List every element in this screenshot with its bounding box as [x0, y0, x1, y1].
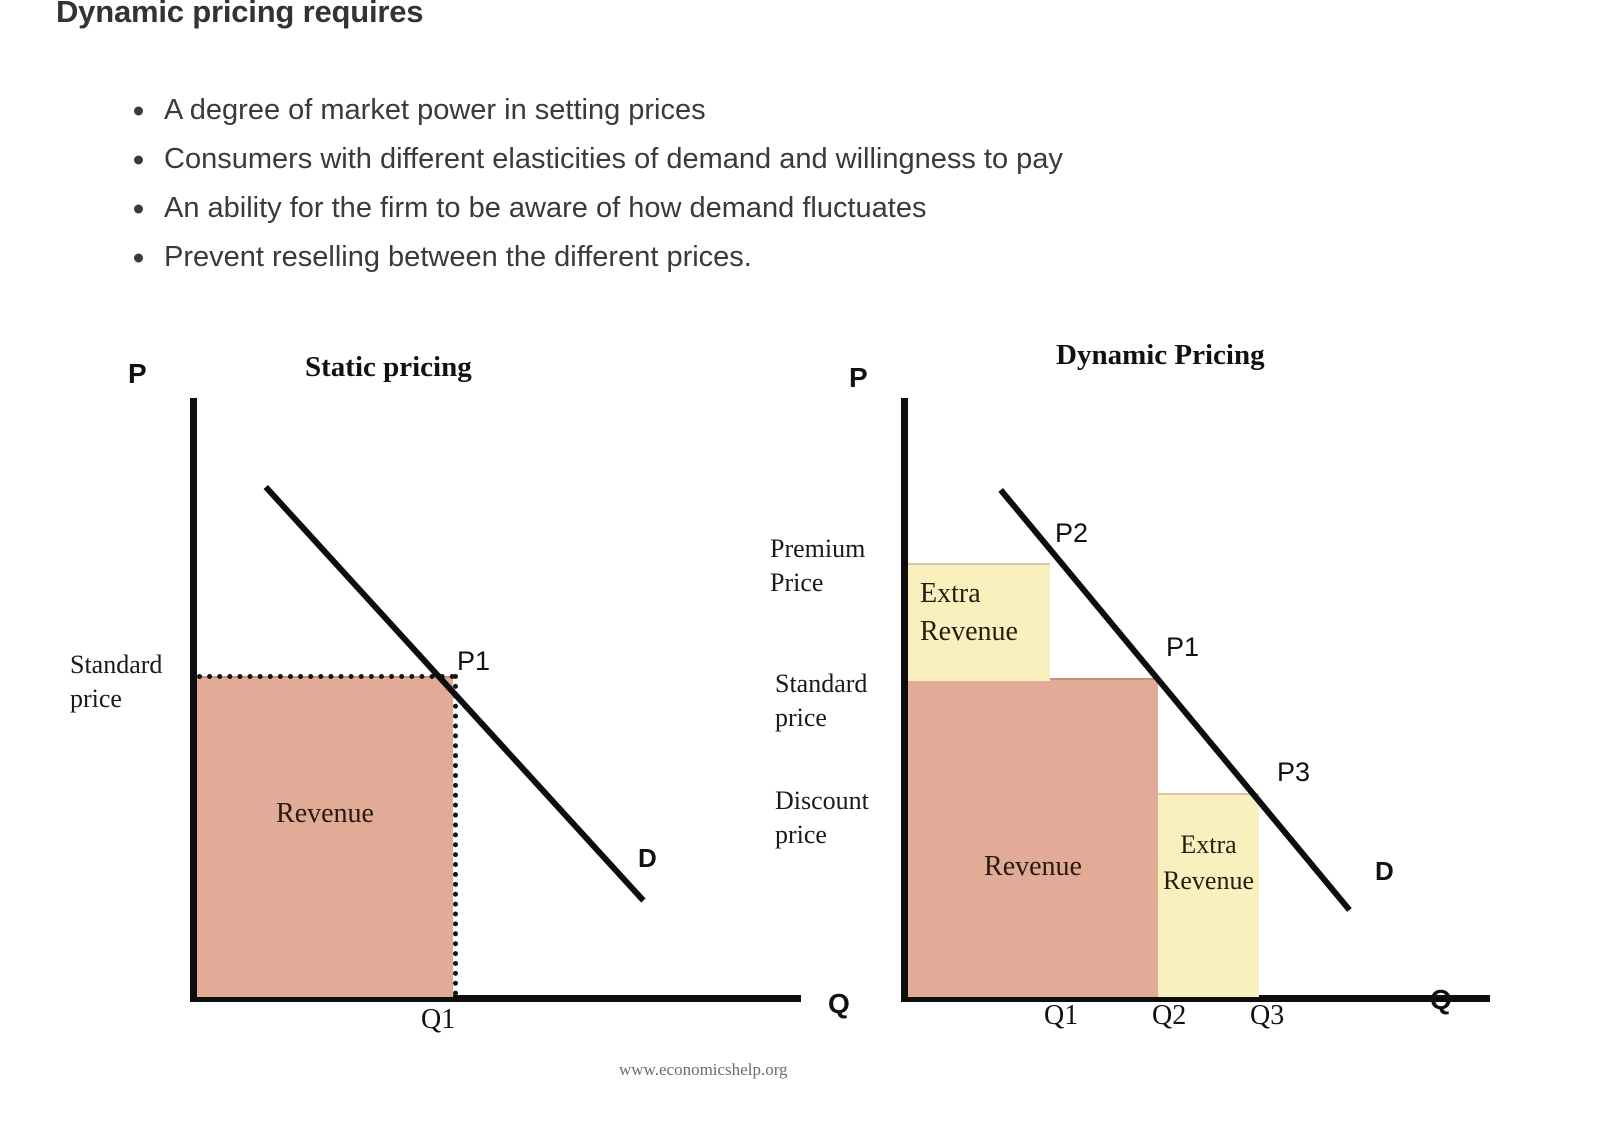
- static-standard-price-line2: price: [70, 682, 162, 716]
- static-x-axis-label: Q: [828, 988, 850, 1020]
- dynamic-discount-price-label: Discount price: [775, 784, 869, 852]
- dynamic-q3-tick: Q3: [1250, 1000, 1284, 1032]
- static-standard-price-line1: Standard: [70, 648, 162, 682]
- static-y-axis: [190, 398, 197, 1002]
- requirements-list: A degree of market power in setting pric…: [120, 86, 1063, 282]
- dynamic-extra-revenue-top-label: Extra Revenue: [908, 575, 1050, 651]
- static-quantity-guideline: [453, 674, 458, 996]
- dynamic-p2-label: P2: [1055, 518, 1088, 549]
- bullet-icon: [134, 155, 143, 164]
- dynamic-extra-revenue-top-line2: Revenue: [920, 613, 1050, 651]
- list-item: An ability for the firm to be aware of h…: [120, 184, 1063, 233]
- static-revenue-label: Revenue: [197, 795, 453, 833]
- static-revenue-area: [197, 676, 453, 997]
- watermark: www.economicshelp.org: [619, 1060, 788, 1080]
- static-y-axis-label: P: [128, 358, 147, 390]
- static-demand-label: D: [638, 843, 657, 874]
- dynamic-premium-price-line2: Price: [770, 566, 865, 600]
- dynamic-discount-price-line1: Discount: [775, 784, 869, 818]
- dynamic-extra-revenue-right-line1: Extra: [1158, 827, 1259, 863]
- dynamic-p1-label: P1: [1166, 632, 1199, 663]
- dynamic-standard-price-line2: price: [775, 701, 867, 735]
- dynamic-y-axis-label: P: [849, 362, 868, 394]
- dynamic-x-axis-label: Q: [1430, 984, 1452, 1016]
- list-item: A degree of market power in setting pric…: [120, 86, 1063, 135]
- list-item-label: A degree of market power in setting pric…: [164, 94, 706, 126]
- list-item: Prevent reselling between the different …: [120, 233, 1063, 282]
- dynamic-p3-label: P3: [1277, 757, 1310, 788]
- static-standard-price-label: Standard price: [70, 648, 162, 716]
- bullet-icon: [134, 106, 143, 115]
- list-item: Consumers with different elasticities of…: [120, 135, 1063, 184]
- dynamic-y-axis: [901, 398, 908, 1002]
- static-p1-label: P1: [457, 646, 490, 677]
- list-item-label: Consumers with different elasticities of…: [164, 143, 1063, 175]
- dynamic-discount-price-line2: price: [775, 818, 869, 852]
- dynamic-extra-revenue-top-line1: Extra: [920, 575, 1050, 613]
- dynamic-standard-price-line1: Standard: [775, 667, 867, 701]
- dynamic-revenue-label: Revenue: [908, 848, 1158, 886]
- list-item-label: Prevent reselling between the different …: [164, 241, 752, 273]
- dynamic-q2-tick: Q2: [1152, 1000, 1186, 1032]
- bullet-icon: [134, 204, 143, 213]
- static-q1-tick: Q1: [421, 1004, 455, 1036]
- list-item-label: An ability for the firm to be aware of h…: [164, 192, 926, 224]
- dynamic-chart-title: Dynamic Pricing: [1056, 339, 1265, 372]
- dynamic-extra-revenue-right-line2: Revenue: [1158, 863, 1259, 899]
- dynamic-demand-label: D: [1375, 856, 1394, 887]
- static-chart-title: Static pricing: [305, 351, 472, 384]
- dynamic-premium-price-line1: Premium: [770, 532, 865, 566]
- dynamic-standard-price-label: Standard price: [775, 667, 867, 735]
- bullet-icon: [134, 253, 143, 262]
- dynamic-q1-tick: Q1: [1044, 1000, 1078, 1032]
- page-title: Dynamic pricing requires: [56, 0, 423, 30]
- dynamic-revenue-area: [908, 678, 1158, 997]
- dynamic-extra-revenue-right-label: Extra Revenue: [1158, 827, 1259, 899]
- dynamic-premium-price-label: Premium Price: [770, 532, 865, 600]
- static-price-guideline: [197, 674, 455, 679]
